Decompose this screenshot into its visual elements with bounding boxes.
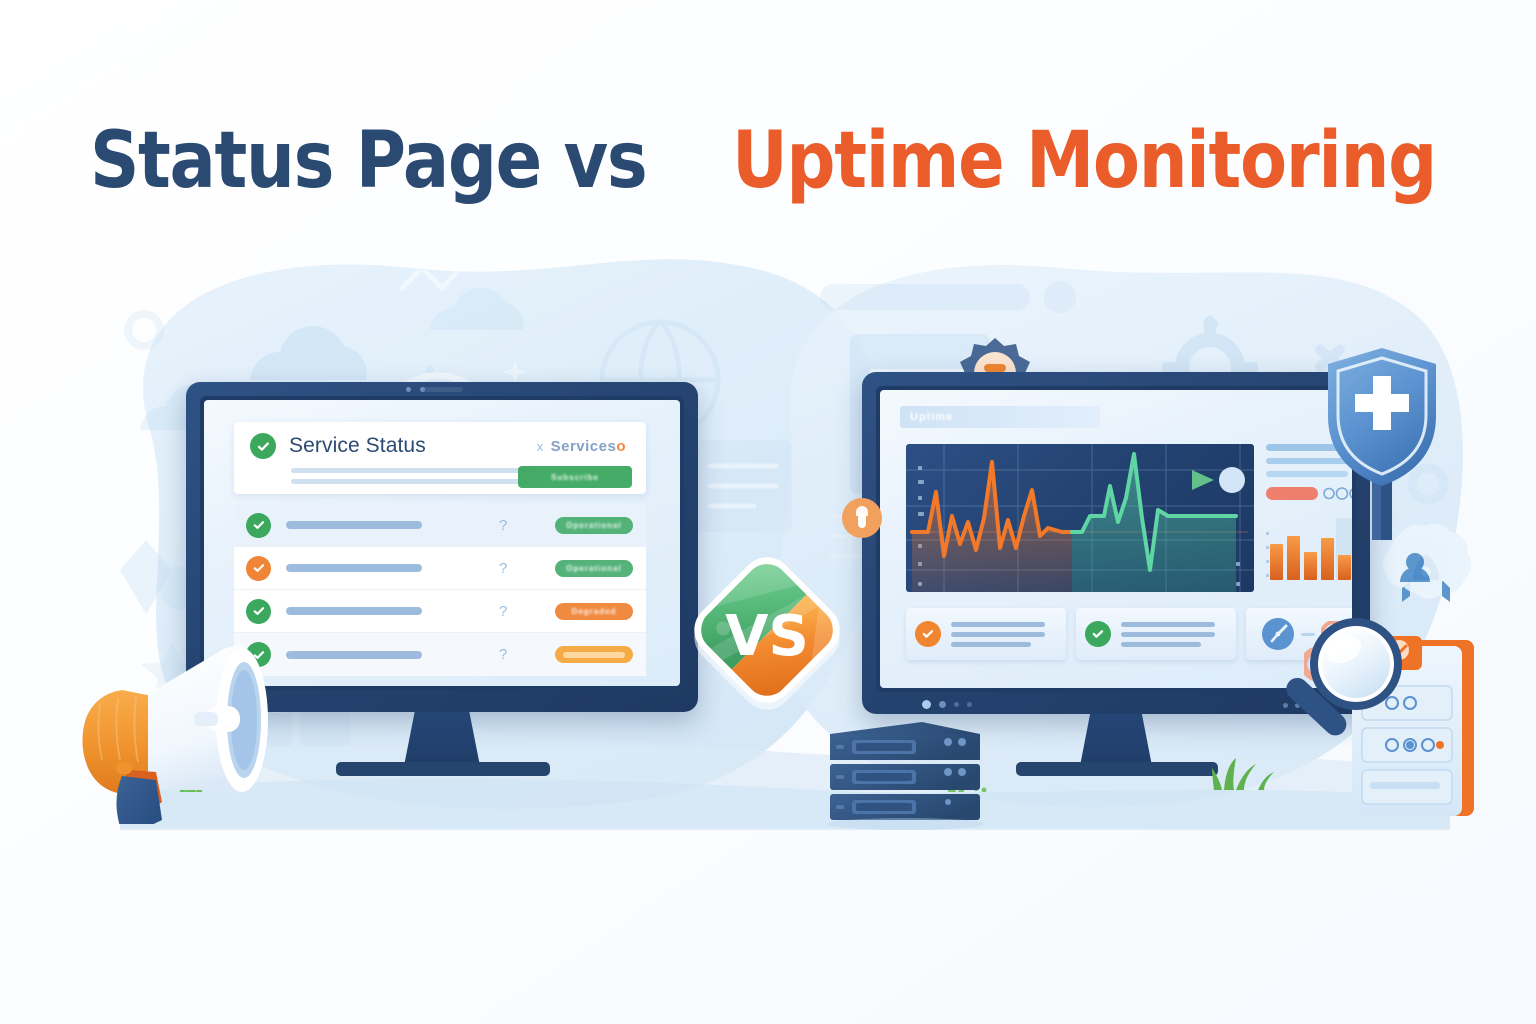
service-name-skeleton: [286, 607, 422, 615]
brand-label: xServiceso: [537, 438, 626, 455]
highlight-pill: [1266, 487, 1318, 500]
status-badge-inner: [563, 652, 625, 658]
status-led: [967, 702, 972, 707]
illustration-canvas: Service Status xServiceso Subscribe: [0, 0, 1536, 1024]
card-skeleton-lines: [1121, 622, 1215, 647]
status-badge-label: Operational: [566, 521, 621, 530]
card-skeleton-lines: [951, 622, 1045, 647]
title-part-navy: Status Page vs: [90, 122, 646, 200]
monitor-stand-neck: [404, 712, 480, 766]
status-badge: Operational: [555, 517, 633, 534]
status-led: [939, 701, 946, 708]
webcam-strip: [421, 387, 463, 392]
monitor-stand-neck: [1080, 714, 1152, 766]
skeleton-line: [1121, 642, 1201, 647]
check-circle-icon: [246, 556, 271, 581]
play-marker-icon: [1192, 470, 1214, 490]
brand-accent-dot: o: [616, 438, 626, 455]
skeleton-line: [291, 468, 531, 473]
monitor-stand-base: [336, 762, 550, 776]
row-meta: ?: [499, 560, 507, 577]
healthy-card[interactable]: [1076, 608, 1236, 660]
dashboard-screen: Uptime: [880, 390, 1352, 688]
status-dot-icon: [1219, 467, 1245, 493]
service-name-skeleton: [286, 564, 422, 572]
vs-badge: VS: [672, 542, 862, 732]
status-led: [406, 387, 411, 392]
monitor-stand-base: [1016, 762, 1218, 776]
status-badge: Operational: [555, 560, 633, 577]
title-part-orange: Uptime Monitoring: [732, 122, 1436, 200]
skeleton-line: [951, 622, 1045, 627]
topbar-label: Uptime: [910, 411, 953, 423]
subscribe-button-label: Subscribe: [551, 473, 599, 482]
check-circle-icon: [246, 513, 271, 538]
check-circle-icon: [1085, 621, 1111, 647]
skeleton-line: [1121, 622, 1215, 627]
service-status-header: Service Status xServiceso: [234, 422, 646, 462]
status-badge: Degraded: [555, 603, 633, 620]
magnifier-icon: [1284, 606, 1434, 756]
power-led: [922, 700, 931, 709]
row-meta: ?: [499, 603, 507, 620]
status-badge: [555, 646, 633, 663]
status-led: [420, 387, 425, 392]
skeleton-line: [951, 642, 1031, 647]
incident-card[interactable]: [906, 608, 1066, 660]
check-circle-icon: [250, 433, 276, 459]
table-row[interactable]: ? Operational: [234, 504, 646, 547]
page-title: Service Status: [289, 434, 426, 458]
subscribe-button[interactable]: Subscribe: [518, 466, 632, 488]
skeleton-line: [1121, 632, 1215, 637]
page-title-heading: Status Page vs Uptime Monitoring: [0, 122, 1536, 200]
user-badge-icon: [1372, 530, 1458, 610]
header-skeleton-lines: [291, 468, 531, 484]
brand-prefix: x: [537, 439, 544, 454]
service-name-skeleton: [286, 521, 422, 529]
status-led: [954, 702, 959, 707]
row-meta: ?: [499, 646, 507, 663]
response-time-chart: [906, 444, 1254, 592]
chart-svg: [906, 444, 1254, 592]
lock-badge-icon: [838, 494, 886, 542]
shield-health-icon: [1318, 340, 1448, 540]
vs-badge-label: VS: [725, 604, 809, 669]
check-circle-icon: [915, 621, 941, 647]
table-row[interactable]: ? Operational: [234, 547, 646, 590]
status-badge-label: Operational: [566, 564, 621, 573]
service-status-header-card: Service Status xServiceso Subscribe: [234, 422, 646, 494]
brand-text: Services: [551, 438, 617, 455]
skeleton-line: [291, 479, 531, 484]
dashboard-topbar: Uptime: [900, 406, 1100, 428]
monitor-led-row: [922, 700, 972, 709]
skeleton-line: [951, 632, 1045, 637]
status-badge-label: Degraded: [572, 607, 617, 616]
row-meta: ?: [499, 517, 507, 534]
check-circle-icon: [246, 599, 271, 624]
megaphone-icon: [64, 624, 314, 824]
